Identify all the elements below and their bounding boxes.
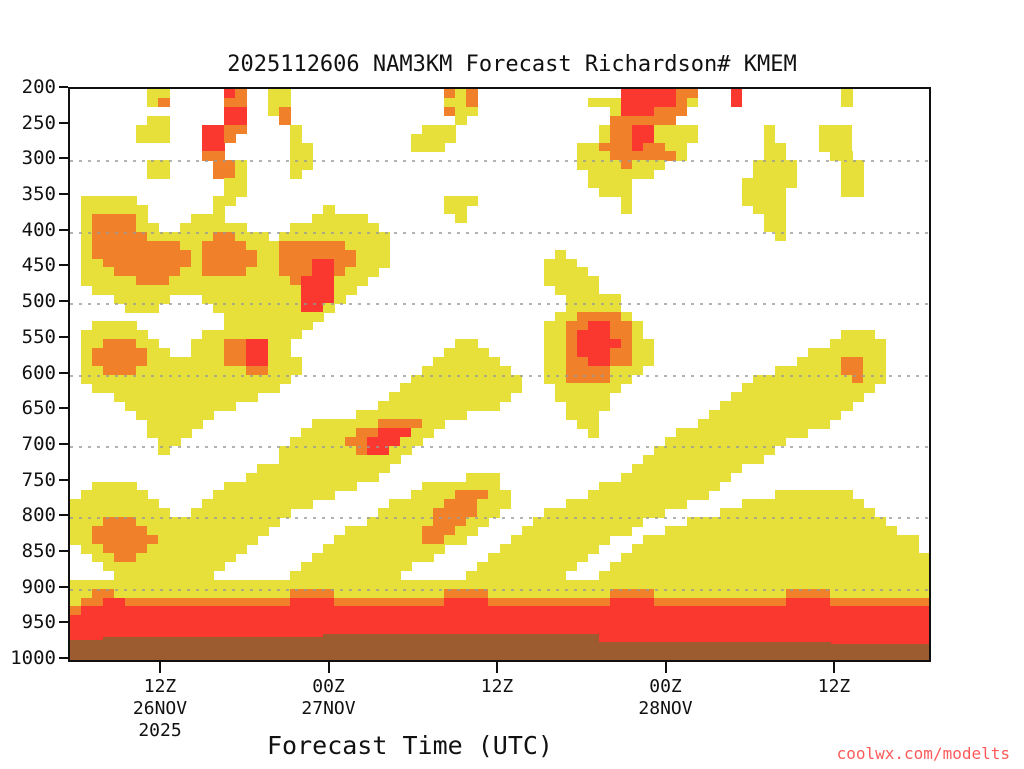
- y-axis-tick-label: 200: [22, 76, 56, 98]
- y-axis-tick-label: 550: [22, 326, 56, 348]
- y-axis-tick-mark: [59, 514, 68, 516]
- heatmap-cell: [841, 98, 853, 108]
- y-axis-tick-mark: [59, 479, 68, 481]
- terrain-segment: [290, 637, 302, 660]
- terrain-segment: [389, 634, 401, 660]
- y-axis-tick-label: 400: [22, 219, 56, 241]
- terrain-segment: [863, 644, 875, 660]
- terrain-segment: [169, 637, 181, 660]
- heatmap-cell: [268, 107, 280, 117]
- terrain-segment: [533, 634, 545, 660]
- terrain-segment: [191, 637, 203, 660]
- terrain-segment: [896, 644, 908, 660]
- terrain-segment: [400, 634, 412, 660]
- y-axis-tick-label: 600: [22, 362, 56, 384]
- chart-title: 2025112606 NAM3KM Forecast Richardson# K…: [0, 52, 1024, 77]
- heatmap-cell: [455, 116, 467, 126]
- heatmap-cell: [323, 303, 335, 313]
- y-axis-tick-mark: [59, 586, 68, 588]
- y-axis-tick-label: 500: [22, 290, 56, 312]
- terrain-segment: [588, 634, 600, 660]
- terrain-segment: [643, 642, 655, 660]
- heatmap-cell: [279, 116, 291, 126]
- y-axis-tick-mark: [59, 86, 68, 88]
- y-axis-tick-label: 950: [22, 611, 56, 633]
- heatmap-cell: [621, 205, 633, 215]
- terrain-segment: [720, 642, 732, 660]
- heatmap-cell: [775, 232, 787, 242]
- y-axis-tick-label: 700: [22, 433, 56, 455]
- terrain-segment: [797, 642, 809, 660]
- terrain-segment: [103, 637, 115, 660]
- y-axis-tick-label: 450: [22, 254, 56, 276]
- terrain-segment: [522, 634, 534, 660]
- terrain-segment: [632, 642, 644, 660]
- y-axis-tick-mark: [59, 372, 68, 374]
- heatmap-cell: [158, 446, 170, 456]
- terrain-segment: [125, 637, 137, 660]
- heatmap-cell: [676, 151, 688, 161]
- x-axis-tick-mark: [833, 662, 835, 673]
- terrain-segment: [246, 637, 258, 660]
- heatmap-cell: [444, 107, 456, 117]
- terrain-segment: [433, 634, 445, 660]
- y-axis-tick-label: 650: [22, 397, 56, 419]
- terrain-segment: [466, 634, 478, 660]
- y-axis-tick-mark: [59, 229, 68, 231]
- terrain-segment: [764, 642, 776, 660]
- y-axis-tick-mark: [59, 193, 68, 195]
- terrain-segment: [279, 637, 291, 660]
- terrain-segment: [621, 642, 633, 660]
- terrain-segment: [477, 634, 489, 660]
- y-axis-tick-mark: [59, 407, 68, 409]
- heatmap-cell: [687, 98, 699, 108]
- y-axis-tick-label: 300: [22, 147, 56, 169]
- terrain-segment: [841, 644, 853, 660]
- x-axis-tick-mark: [159, 662, 161, 673]
- terrain-segment: [555, 634, 567, 660]
- y-axis-tick-label: 350: [22, 183, 56, 205]
- y-axis-tick-mark: [59, 264, 68, 266]
- colorbar-legend[interactable]: 10.50.25: [944, 290, 1024, 480]
- heatmap-cell: [125, 303, 159, 313]
- x-axis-tick-label: 12Z: [818, 676, 851, 698]
- y-axis-tick-label: 800: [22, 504, 56, 526]
- y-axis-tick-label: 900: [22, 576, 56, 598]
- x-axis-tick-mark: [665, 662, 667, 673]
- terrain-segment: [323, 634, 335, 660]
- terrain-segment: [819, 642, 831, 660]
- terrain-segment: [356, 634, 368, 660]
- terrain-segment: [698, 642, 710, 660]
- terrain-segment: [224, 637, 236, 660]
- terrain-segment: [742, 642, 754, 660]
- y-axis-tick-mark: [59, 300, 68, 302]
- y-axis-tick-mark: [59, 443, 68, 445]
- terrain-segment: [918, 644, 930, 660]
- x-axis-tick-label: 00Z 27NOV: [301, 676, 355, 720]
- terrain-segment: [235, 637, 247, 660]
- heatmap-cell: [841, 187, 864, 197]
- y-axis-tick-mark: [59, 657, 68, 659]
- terrain-segment: [753, 642, 765, 660]
- y-axis-tick-mark: [59, 550, 68, 552]
- heatmap-plot-area[interactable]: [68, 87, 931, 662]
- terrain-segment: [158, 637, 170, 660]
- terrain-segment: [202, 637, 214, 660]
- terrain-segment: [665, 642, 677, 660]
- y-axis-tick-label: 750: [22, 469, 56, 491]
- y-axis-tick-mark: [59, 621, 68, 623]
- y-axis-tick-label: 250: [22, 112, 56, 134]
- heatmap-cell: [136, 134, 170, 144]
- heatmap-cell: [224, 134, 236, 144]
- heatmap-cell: [455, 214, 467, 224]
- y-axis-tick-mark: [59, 336, 68, 338]
- terrain-segment: [830, 644, 842, 660]
- terrain-segment: [775, 642, 787, 660]
- source-watermark: coolwx.com/modelts: [837, 744, 1010, 763]
- heatmap-cell: [290, 169, 302, 179]
- terrain-segment: [511, 634, 523, 660]
- terrain-segment: [81, 640, 93, 660]
- x-axis-tick-mark: [328, 662, 330, 673]
- terrain-segment: [411, 634, 423, 660]
- terrain-segment: [147, 637, 159, 660]
- y-axis-tick-label: 1000: [10, 647, 56, 669]
- terrain-segment: [676, 642, 688, 660]
- heatmap-cell: [334, 294, 346, 304]
- y-axis-tick-mark: [59, 157, 68, 159]
- x-axis-title: Forecast Time (UTC): [0, 731, 820, 760]
- heatmap-cell: [588, 428, 600, 438]
- terrain-segment: [334, 634, 346, 660]
- terrain-segment: [654, 642, 666, 660]
- terrain-segment: [92, 640, 104, 660]
- x-axis-tick-mark: [496, 662, 498, 673]
- heatmap-cell: [147, 98, 159, 108]
- terrain-segment: [213, 637, 225, 660]
- y-axis-tick-label: 850: [22, 540, 56, 562]
- heatmap-cell: [731, 98, 743, 108]
- terrain-segment: [599, 642, 611, 660]
- terrain-segment: [268, 637, 280, 660]
- heatmap-cells: [70, 89, 929, 660]
- x-axis-tick-label: 00Z 28NOV: [638, 676, 692, 720]
- terrain-segment: [367, 634, 379, 660]
- terrain-segment: [709, 642, 721, 660]
- heatmap-cell: [444, 535, 467, 545]
- terrain-segment: [907, 644, 919, 660]
- heatmap-cell: [411, 143, 445, 153]
- heatmap-cell: [147, 169, 170, 179]
- terrain-segment: [455, 634, 467, 660]
- chart-page: 2025112606 NAM3KM Forecast Richardson# K…: [0, 0, 1024, 768]
- terrain-segment: [345, 634, 357, 660]
- y-axis-labels: 2002503003504004505005506006507007508008…: [0, 87, 68, 662]
- terrain-segment: [786, 642, 798, 660]
- terrain-segment: [488, 634, 500, 660]
- y-axis-tick-mark: [59, 122, 68, 124]
- terrain-segment: [885, 644, 897, 660]
- heatmap-cell: [158, 98, 170, 108]
- x-axis-tick-label: 12Z: [481, 676, 514, 698]
- terrain-segment: [577, 634, 589, 660]
- terrain-segment: [312, 637, 324, 660]
